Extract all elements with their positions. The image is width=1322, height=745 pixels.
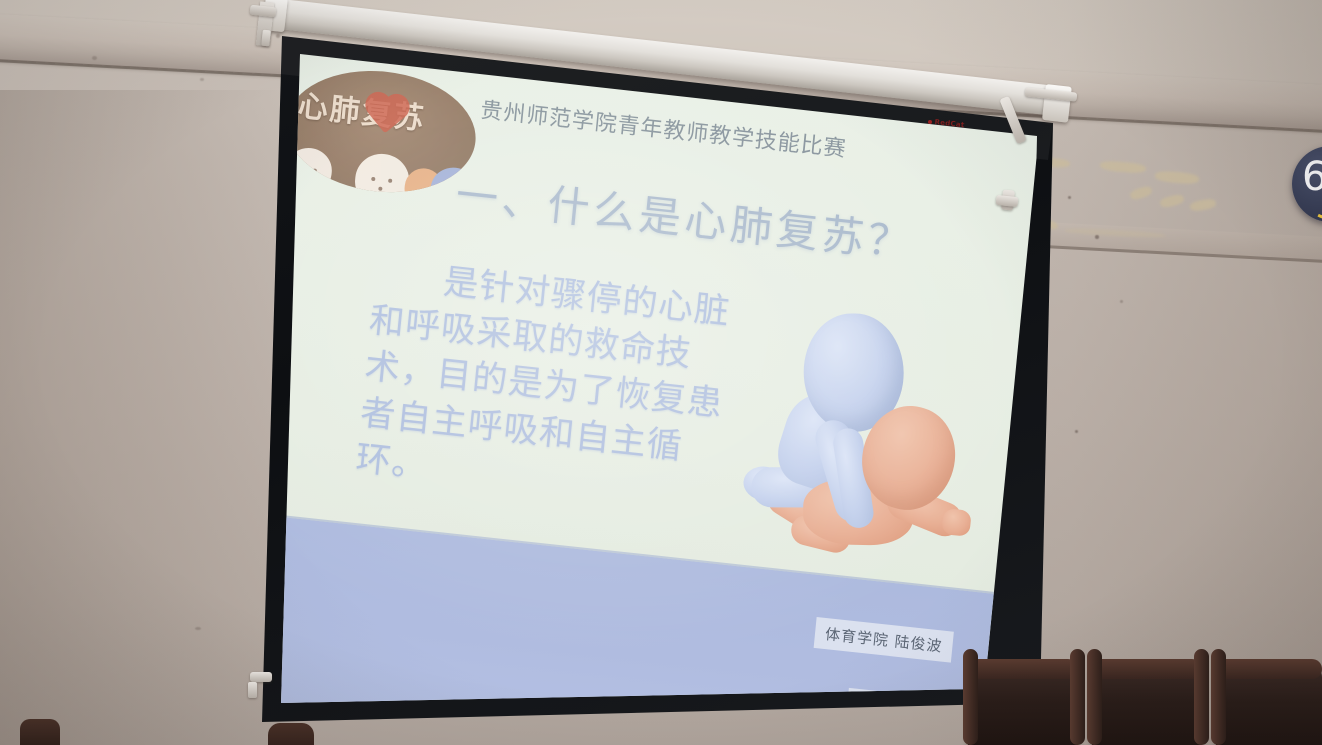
slide-title: 一、什么是心肺复苏？ bbox=[454, 169, 1016, 281]
screen-bottom-hook-left bbox=[250, 672, 272, 682]
chair-top-rail bbox=[1216, 659, 1322, 679]
cpr-illustration bbox=[731, 297, 984, 570]
screen-bracket-left-pin bbox=[261, 30, 271, 47]
chair-back bbox=[1216, 667, 1322, 745]
chair-top-rail bbox=[968, 659, 1078, 679]
wall-spot bbox=[276, 34, 280, 38]
wall-spot bbox=[1120, 300, 1123, 303]
presentation-slide: 心肺复苏 贵州师范学院青年教师教学技 bbox=[214, 44, 1040, 745]
wall-spot bbox=[92, 56, 97, 60]
classroom-photo-scene: 6 心肺复苏 bbox=[0, 0, 1322, 745]
slide-logo: 心肺复苏 bbox=[281, 62, 482, 202]
chair-back bbox=[1092, 667, 1202, 745]
chair-post bbox=[1087, 649, 1102, 745]
wall-spot bbox=[1095, 235, 1099, 239]
chair-post bbox=[1211, 649, 1226, 745]
screen-bracket-right-plate bbox=[996, 195, 1019, 207]
chair-back bbox=[268, 723, 314, 745]
logo-figure bbox=[353, 151, 412, 201]
chair-post bbox=[963, 649, 978, 745]
wall-spot bbox=[200, 78, 204, 81]
chair-back bbox=[968, 667, 1078, 745]
sign-number-label: 6 bbox=[1302, 154, 1322, 200]
wall-spot bbox=[1075, 430, 1078, 433]
wall-spot bbox=[1068, 196, 1071, 199]
slide-body-text: 是针对骤停的心脏和呼吸采取的救命技术，目的是为了恢复患者自主呼吸和自主循环。 bbox=[354, 252, 748, 522]
chair-top-rail bbox=[1092, 659, 1202, 679]
patient-hand bbox=[941, 508, 971, 537]
screen-bottom-hook-left-pin bbox=[248, 682, 257, 698]
chair-post bbox=[1070, 649, 1085, 745]
wall-shadow-left bbox=[0, 90, 300, 745]
chair-post bbox=[1194, 649, 1209, 745]
wall-spot bbox=[195, 627, 201, 630]
chair-back bbox=[20, 719, 60, 745]
projected-slide-wrapper: 心肺复苏 贵州师范学院青年教师教学技 bbox=[214, 44, 1040, 745]
